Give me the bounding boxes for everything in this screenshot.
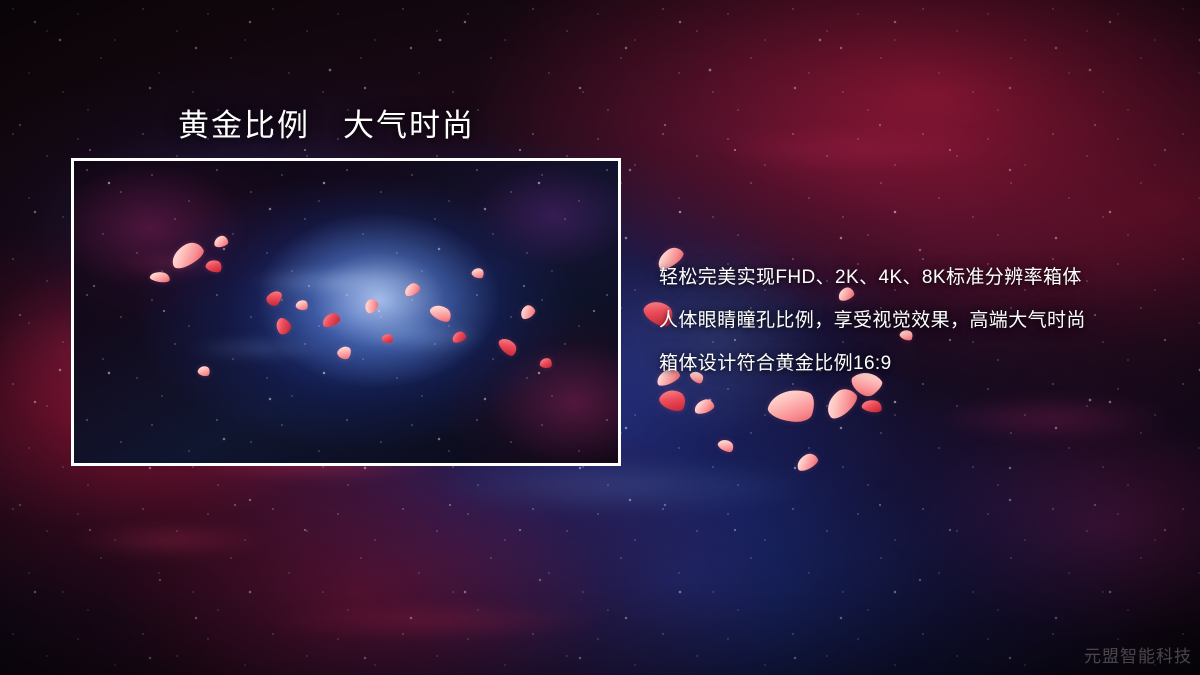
- petal: [273, 315, 294, 336]
- petal-shape: [794, 451, 820, 473]
- petal-shape: [716, 437, 735, 455]
- petal: [264, 288, 284, 309]
- petal: [496, 335, 519, 359]
- petal-shape: [766, 382, 818, 428]
- petal: [518, 303, 537, 321]
- petal: [149, 270, 170, 283]
- petal: [197, 364, 212, 377]
- petal: [766, 382, 818, 428]
- petal-shape: [204, 258, 223, 275]
- petal-shape: [496, 335, 519, 359]
- petal-shape: [539, 357, 552, 369]
- body-line-1: 轻松完美实现FHD、2K、4K、8K标准分辨率箱体: [659, 256, 1179, 299]
- petal-shape: [213, 235, 229, 248]
- petal-shape: [197, 364, 212, 377]
- petal: [362, 297, 380, 315]
- petal-shape: [471, 266, 486, 280]
- petal-shape: [821, 384, 861, 423]
- petal: [451, 330, 467, 344]
- petal: [213, 235, 229, 248]
- petal: [657, 385, 689, 414]
- presentation-slide: 黄金比例 大气时尚 轻松完美实现FHD、2K、4K、8K标准分辨率箱体 人体眼睛…: [0, 0, 1200, 675]
- petal: [381, 333, 394, 344]
- petal-shape: [428, 301, 454, 325]
- petal-shape: [295, 299, 309, 312]
- petal-shape: [402, 281, 421, 298]
- petal: [428, 301, 454, 325]
- petal-shape: [362, 297, 380, 315]
- petal-shape: [518, 303, 537, 321]
- petal: [821, 384, 861, 423]
- body-line-2: 人体眼睛瞳孔比例，享受视觉效果，高端大气时尚: [659, 299, 1179, 342]
- product-image-frame: [71, 158, 621, 466]
- petal-shape: [381, 333, 394, 344]
- petal-shape: [336, 344, 354, 362]
- page-title: 黄金比例 大气时尚: [178, 100, 475, 145]
- petal-shape: [657, 385, 689, 414]
- petal: [336, 344, 354, 362]
- petal: [693, 397, 716, 415]
- petal: [320, 311, 341, 328]
- body-line-3: 箱体设计符合黄金比例16:9: [659, 342, 1179, 385]
- petal-shape: [861, 398, 883, 414]
- petal-shape: [693, 397, 716, 415]
- petal: [716, 437, 735, 455]
- petal-shape: [149, 270, 170, 283]
- petal: [295, 299, 309, 312]
- petal: [204, 258, 223, 275]
- petal-shape: [167, 238, 206, 272]
- petal: [471, 266, 486, 280]
- petal-shape: [320, 311, 341, 328]
- petal-shape: [451, 330, 467, 344]
- petal: [167, 238, 206, 272]
- petal: [402, 281, 421, 298]
- petal-shape: [273, 315, 294, 336]
- petal: [861, 398, 883, 414]
- watermark: 元盟智能科技: [1084, 642, 1192, 667]
- petal: [539, 357, 552, 369]
- frame-petals: [74, 161, 618, 463]
- body-copy: 轻松完美实现FHD、2K、4K、8K标准分辨率箱体 人体眼睛瞳孔比例，享受视觉效…: [659, 256, 1179, 385]
- petal: [794, 451, 820, 473]
- petal-shape: [264, 288, 284, 309]
